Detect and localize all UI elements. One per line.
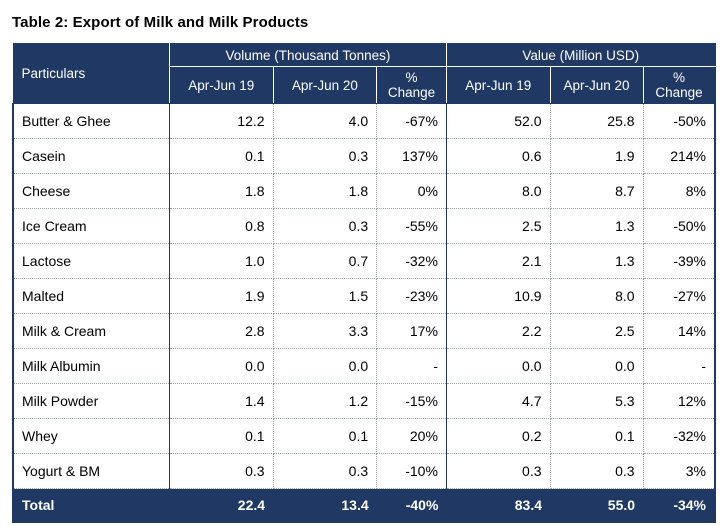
- cell-value-apr-jun-20: 1.3: [550, 209, 643, 244]
- cell-volume-apr-jun-19: 0.0: [169, 349, 273, 384]
- cell-volume-pct-change: -23%: [377, 279, 447, 314]
- column-group-header-value: Value (Million USD): [446, 44, 715, 67]
- column-header-value-apr-jun-20: Apr-Jun 20: [550, 67, 643, 104]
- cell-value-pct-change: 14%: [643, 314, 715, 349]
- row-label: Lactose: [13, 244, 169, 279]
- total-volume-apr-jun-19: 22.4: [169, 489, 273, 523]
- cell-volume-pct-change: 20%: [377, 419, 447, 454]
- column-header-particulars: Particulars: [13, 44, 169, 104]
- row-label: Whey: [13, 419, 169, 454]
- document-page: Table 2: Export of Milk and Milk Product…: [0, 0, 720, 526]
- cell-value-apr-jun-20: 1.9: [550, 139, 643, 174]
- cell-value-pct-change: -50%: [643, 104, 715, 139]
- cell-volume-pct-change: -67%: [377, 104, 447, 139]
- cell-volume-apr-jun-19: 1.4: [169, 384, 273, 419]
- cell-volume-apr-jun-20: 0.3: [273, 139, 377, 174]
- column-header-volume-apr-jun-20: Apr-Jun 20: [273, 67, 377, 104]
- cell-value-apr-jun-20: 1.3: [550, 244, 643, 279]
- cell-volume-apr-jun-20: 1.8: [273, 174, 377, 209]
- cell-volume-pct-change: -15%: [377, 384, 447, 419]
- cell-value-apr-jun-19: 0.6: [446, 139, 550, 174]
- cell-volume-pct-change: -32%: [377, 244, 447, 279]
- cell-volume-pct-change: 137%: [377, 139, 447, 174]
- cell-volume-pct-change: -: [377, 349, 447, 384]
- cell-volume-apr-jun-20: 0.3: [273, 209, 377, 244]
- cell-value-apr-jun-19: 8.0: [446, 174, 550, 209]
- cell-value-pct-change: 8%: [643, 174, 715, 209]
- cell-volume-apr-jun-20: 0.1: [273, 419, 377, 454]
- cell-value-pct-change: 12%: [643, 384, 715, 419]
- total-value-pct-change: -34%: [643, 489, 715, 523]
- cell-value-apr-jun-19: 2.2: [446, 314, 550, 349]
- column-header-value-pct-change: % Change: [643, 67, 715, 104]
- cell-volume-apr-jun-19: 1.9: [169, 279, 273, 314]
- row-label: Yogurt & BM: [13, 454, 169, 489]
- cell-value-apr-jun-19: 0.3: [446, 454, 550, 489]
- column-group-header-volume: Volume (Thousand Tonnes): [169, 44, 446, 67]
- table-row: Malted 1.9 1.5 -23% 10.9 8.0 -27%: [13, 279, 715, 314]
- table-row: Milk Powder 1.4 1.2 -15% 4.7 5.3 12%: [13, 384, 715, 419]
- cell-volume-apr-jun-20: 1.5: [273, 279, 377, 314]
- row-label: Cheese: [13, 174, 169, 209]
- total-volume-apr-jun-20: 13.4: [273, 489, 377, 523]
- cell-value-apr-jun-19: 10.9: [446, 279, 550, 314]
- cell-volume-apr-jun-20: 4.0: [273, 104, 377, 139]
- cell-volume-apr-jun-19: 0.3: [169, 454, 273, 489]
- table-row: Ice Cream 0.8 0.3 -55% 2.5 1.3 -50%: [13, 209, 715, 244]
- total-value-apr-jun-19: 83.4: [446, 489, 550, 523]
- cell-value-apr-jun-20: 8.7: [550, 174, 643, 209]
- row-label: Milk Albumin: [13, 349, 169, 384]
- table-group-header-row: Particulars Volume (Thousand Tonnes) Val…: [13, 44, 715, 67]
- cell-volume-pct-change: 0%: [377, 174, 447, 209]
- cell-volume-apr-jun-19: 1.8: [169, 174, 273, 209]
- cell-volume-pct-change: 17%: [377, 314, 447, 349]
- cell-volume-apr-jun-19: 0.1: [169, 419, 273, 454]
- table-row: Lactose 1.0 0.7 -32% 2.1 1.3 -39%: [13, 244, 715, 279]
- cell-value-pct-change: -39%: [643, 244, 715, 279]
- cell-volume-apr-jun-19: 1.0: [169, 244, 273, 279]
- cell-volume-apr-jun-20: 0.0: [273, 349, 377, 384]
- total-volume-pct-change: -40%: [377, 489, 447, 523]
- table-row: Whey 0.1 0.1 20% 0.2 0.1 -32%: [13, 419, 715, 454]
- cell-value-pct-change: -32%: [643, 419, 715, 454]
- table-body: Butter & Ghee 12.2 4.0 -67% 52.0 25.8 -5…: [13, 104, 715, 523]
- cell-volume-apr-jun-19: 0.8: [169, 209, 273, 244]
- cell-value-apr-jun-19: 2.1: [446, 244, 550, 279]
- cell-value-apr-jun-19: 52.0: [446, 104, 550, 139]
- column-header-volume-pct-change: % Change: [377, 67, 447, 104]
- cell-volume-pct-change: -10%: [377, 454, 447, 489]
- table-total-row: Total 22.4 13.4 -40% 83.4 55.0 -34%: [13, 489, 715, 523]
- cell-volume-apr-jun-19: 2.8: [169, 314, 273, 349]
- cell-value-pct-change: 214%: [643, 139, 715, 174]
- table-row: Butter & Ghee 12.2 4.0 -67% 52.0 25.8 -5…: [13, 104, 715, 139]
- cell-value-apr-jun-20: 0.1: [550, 419, 643, 454]
- cell-volume-apr-jun-19: 0.1: [169, 139, 273, 174]
- table-row: Cheese 1.8 1.8 0% 8.0 8.7 8%: [13, 174, 715, 209]
- cell-value-apr-jun-20: 0.3: [550, 454, 643, 489]
- cell-value-apr-jun-20: 0.0: [550, 349, 643, 384]
- cell-volume-pct-change: -55%: [377, 209, 447, 244]
- cell-value-pct-change: -27%: [643, 279, 715, 314]
- table-row: Milk & Cream 2.8 3.3 17% 2.2 2.5 14%: [13, 314, 715, 349]
- cell-value-apr-jun-20: 5.3: [550, 384, 643, 419]
- cell-value-apr-jun-20: 2.5: [550, 314, 643, 349]
- cell-value-apr-jun-19: 2.5: [446, 209, 550, 244]
- table-row: Milk Albumin 0.0 0.0 - 0.0 0.0 -: [13, 349, 715, 384]
- row-label: Ice Cream: [13, 209, 169, 244]
- row-label: Butter & Ghee: [13, 104, 169, 139]
- cell-volume-apr-jun-19: 12.2: [169, 104, 273, 139]
- cell-value-apr-jun-19: 0.2: [446, 419, 550, 454]
- cell-value-pct-change: 3%: [643, 454, 715, 489]
- cell-volume-apr-jun-20: 3.3: [273, 314, 377, 349]
- cell-value-pct-change: -50%: [643, 209, 715, 244]
- table-row: Casein 0.1 0.3 137% 0.6 1.9 214%: [13, 139, 715, 174]
- row-label: Malted: [13, 279, 169, 314]
- table-row: Yogurt & BM 0.3 0.3 -10% 0.3 0.3 3%: [13, 454, 715, 489]
- total-row-label: Total: [13, 489, 169, 523]
- cell-value-apr-jun-20: 8.0: [550, 279, 643, 314]
- table-caption: Table 2: Export of Milk and Milk Product…: [12, 14, 712, 31]
- cell-volume-apr-jun-20: 0.3: [273, 454, 377, 489]
- cell-volume-apr-jun-20: 1.2: [273, 384, 377, 419]
- table-header: Particulars Volume (Thousand Tonnes) Val…: [13, 44, 715, 104]
- row-label: Milk & Cream: [13, 314, 169, 349]
- cell-value-pct-change: -: [643, 349, 715, 384]
- cell-value-apr-jun-20: 25.8: [550, 104, 643, 139]
- total-value-apr-jun-20: 55.0: [550, 489, 643, 523]
- row-label: Casein: [13, 139, 169, 174]
- column-header-value-apr-jun-19: Apr-Jun 19: [446, 67, 550, 104]
- export-table: Particulars Volume (Thousand Tonnes) Val…: [12, 43, 716, 523]
- cell-volume-apr-jun-20: 0.7: [273, 244, 377, 279]
- column-header-volume-apr-jun-19: Apr-Jun 19: [169, 67, 273, 104]
- cell-value-apr-jun-19: 0.0: [446, 349, 550, 384]
- cell-value-apr-jun-19: 4.7: [446, 384, 550, 419]
- row-label: Milk Powder: [13, 384, 169, 419]
